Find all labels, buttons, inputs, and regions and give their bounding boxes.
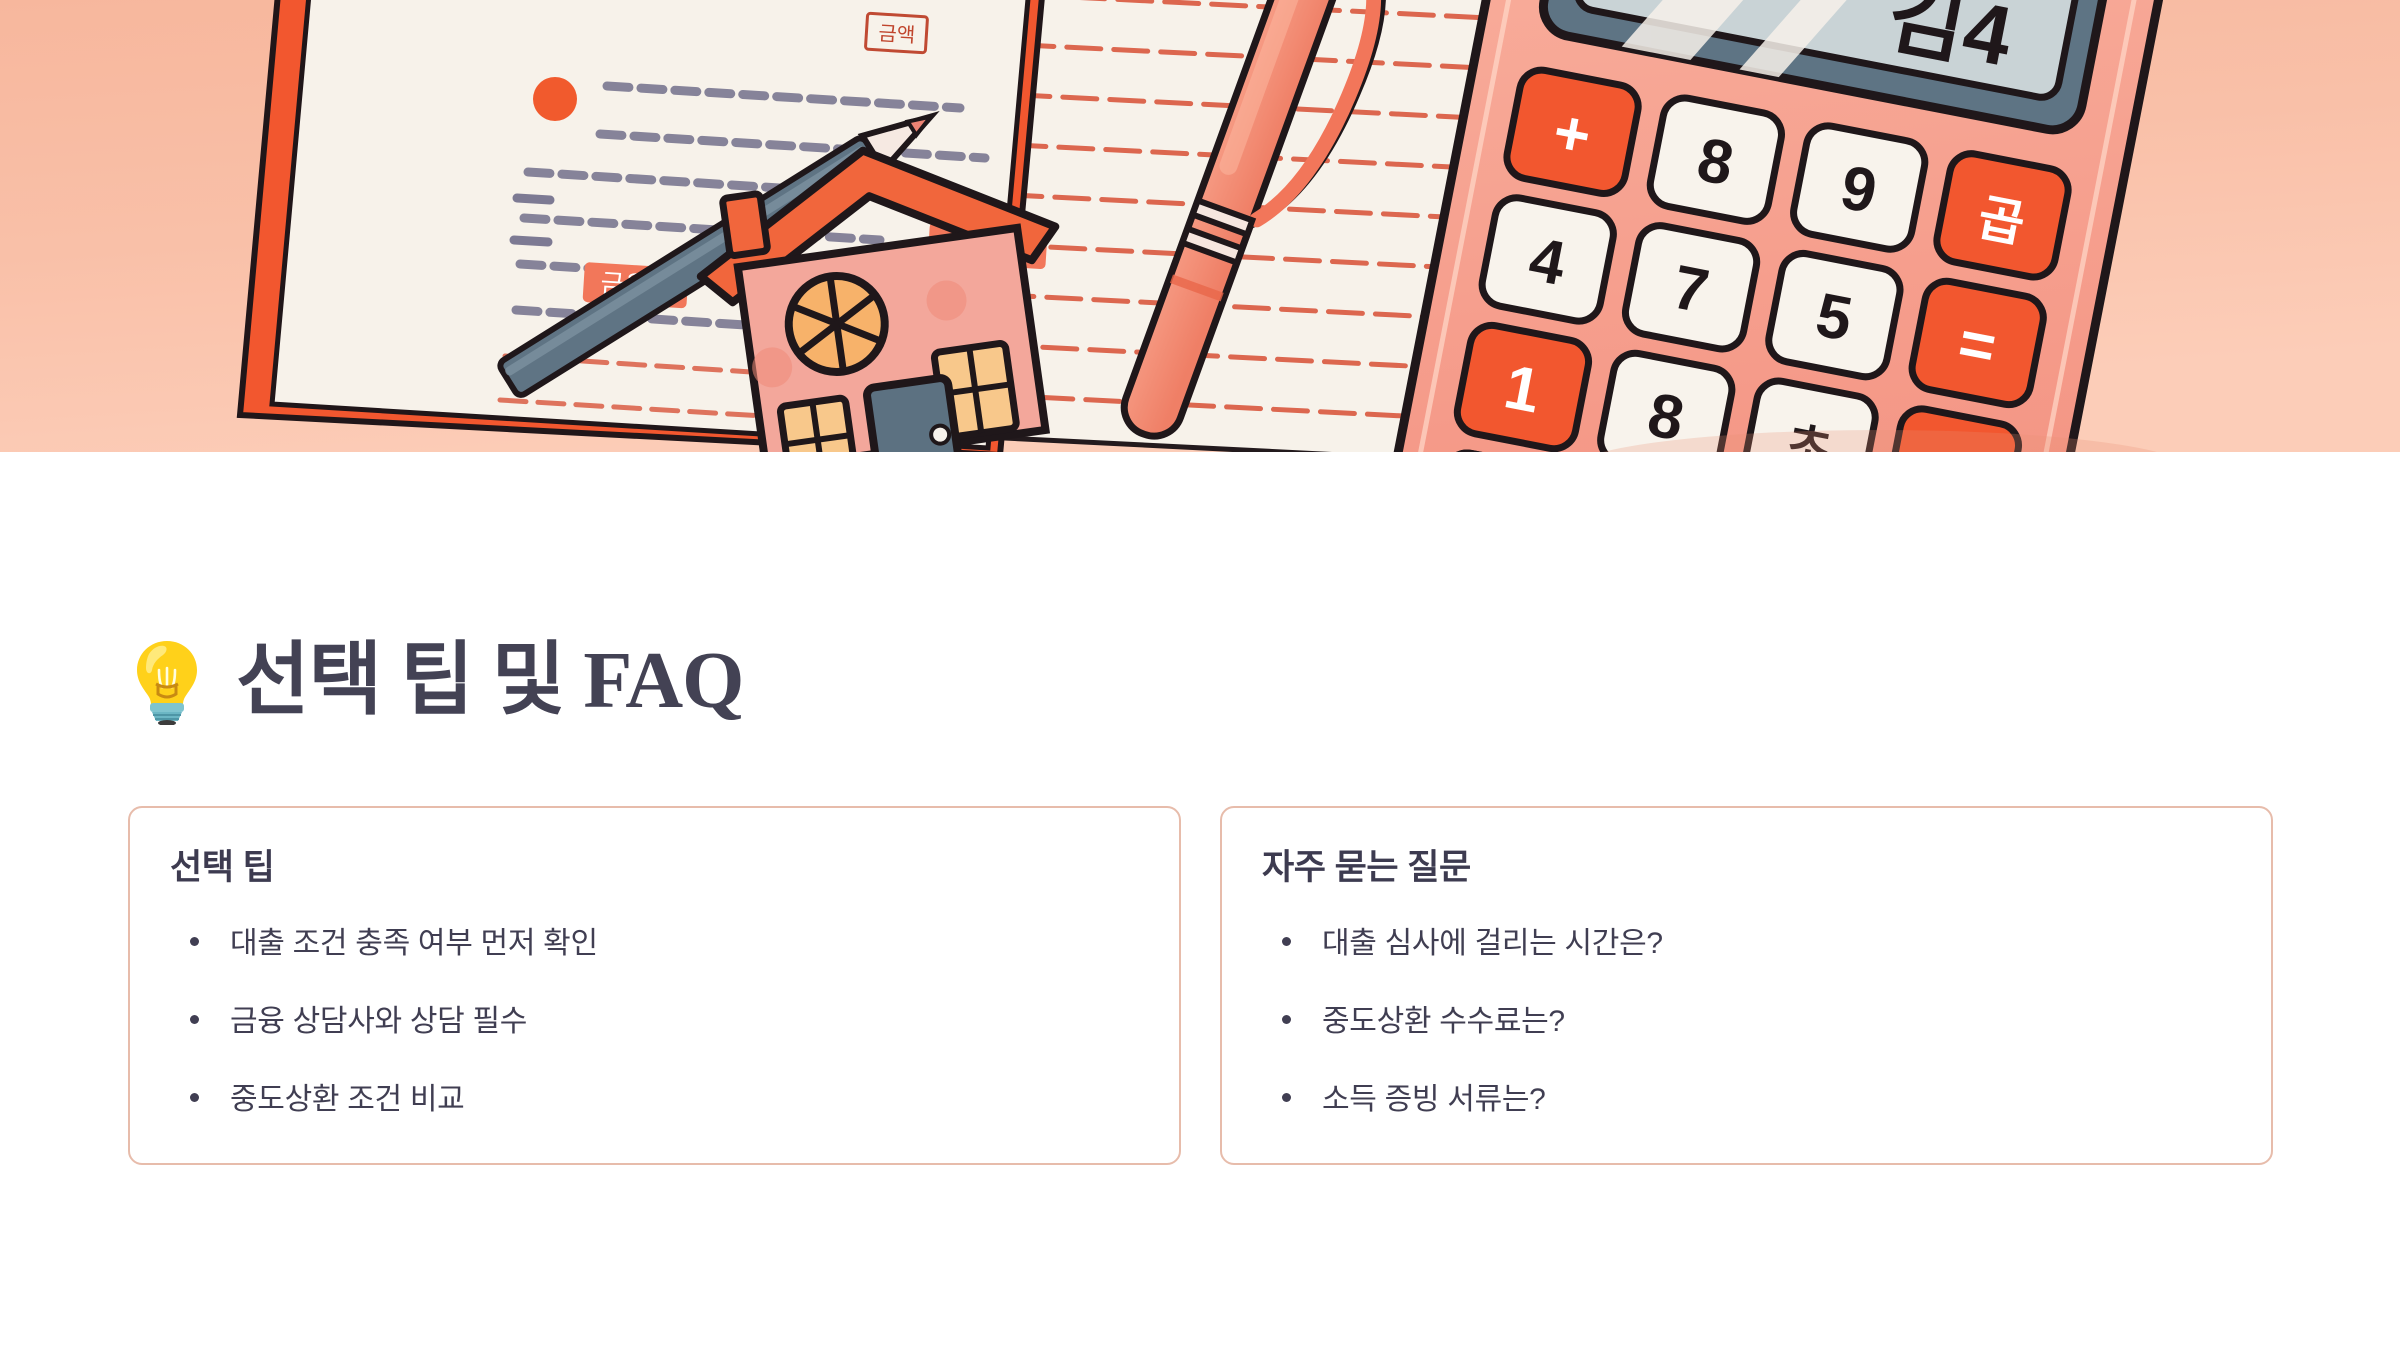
bullet-icon <box>1282 1093 1291 1102</box>
list-item: 소득 증빙 서류는? <box>1262 1080 2231 1119</box>
list-item-label: 대출 심사에 걸리는 시간은? <box>1322 927 1663 960</box>
list-item-label: 중도상환 조건 비교 <box>230 1083 464 1116</box>
list-item-label: 대출 조건 충족 여부 먼저 확인 <box>230 927 598 960</box>
list-item-label: 소득 증빙 서류는? <box>1322 1083 1546 1116</box>
content-area: 선택 팁 및 FAQ 선택 팁 대출 조건 충족 여부 먼저 확인 금융 상담사… <box>0 452 2400 1350</box>
lightbulb-icon <box>128 637 206 725</box>
list-item-label: 중도상환 수수료는? <box>1322 1005 1565 1038</box>
list-item: 금융 상담사와 상담 필수 <box>170 1002 1139 1041</box>
faq-list: 대출 심사에 걸리는 시간은? 중도상환 수수료는? 소득 증빙 서류는? <box>1262 924 2231 1119</box>
card-title: 자주 묻는 질문 <box>1262 846 2231 890</box>
list-item: 중도상환 조건 비교 <box>170 1080 1139 1119</box>
page-root: 절약 <box>0 0 2400 1350</box>
list-item-label: 금융 상담사와 상담 필수 <box>230 1005 527 1038</box>
selection-tips-card: 선택 팁 대출 조건 충족 여부 먼저 확인 금융 상담사와 상담 필수 중도상… <box>128 806 1181 1165</box>
cards-container: 선택 팁 대출 조건 충족 여부 먼저 확인 금융 상담사와 상담 필수 중도상… <box>128 806 2273 1165</box>
bullet-icon <box>1282 937 1291 946</box>
bullet-icon <box>190 1093 199 1102</box>
svg-text:금액: 금액 <box>878 22 916 47</box>
bullet-icon <box>190 1015 199 1024</box>
hero-illustration: 절약 <box>0 0 2400 452</box>
list-item: 중도상환 수수료는? <box>1262 1002 2231 1041</box>
page-title: 선택 팁 및 FAQ <box>236 641 743 721</box>
list-item: 대출 심사에 걸리는 시간은? <box>1262 924 2231 963</box>
tips-list: 대출 조건 충족 여부 먼저 확인 금융 상담사와 상담 필수 중도상환 조건 … <box>170 924 1139 1119</box>
card-title: 선택 팁 <box>170 846 1139 890</box>
bullet-icon <box>190 937 199 946</box>
calculator: 김4 <box>1380 0 2175 452</box>
list-item: 대출 조건 충족 여부 먼저 확인 <box>170 924 1139 963</box>
bullet-icon <box>1282 1015 1291 1024</box>
faq-card: 자주 묻는 질문 대출 심사에 걸리는 시간은? 중도상환 수수료는? 소득 증… <box>1220 806 2273 1165</box>
section-heading: 선택 팁 및 FAQ <box>128 637 743 725</box>
